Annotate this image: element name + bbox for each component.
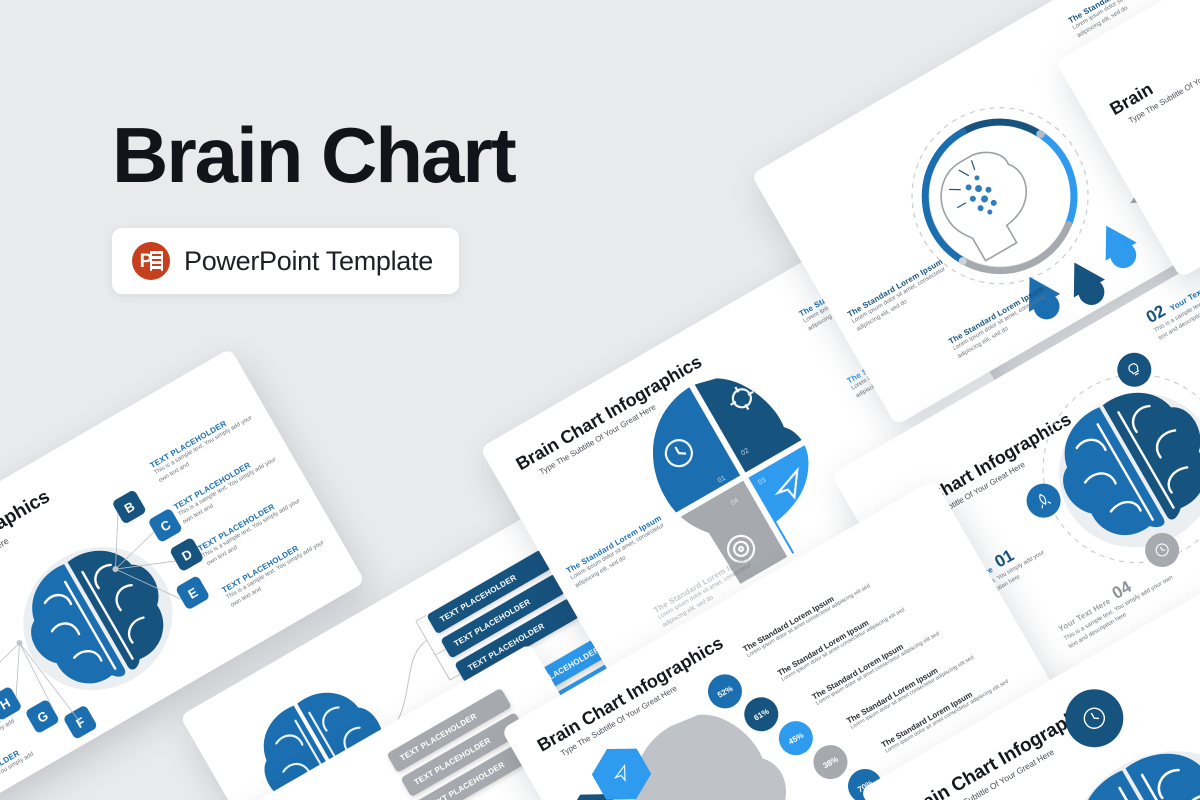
clock-icon: [1077, 700, 1113, 736]
callout-block: The Standard Lorem Ipsum Lorem ipsum dol…: [846, 252, 961, 334]
poster-stage: Brain Chart Infographics Type The Subtit…: [0, 0, 1200, 800]
callout-block: The Standard Lorem Ipsum Lorem ipsum dol…: [565, 510, 679, 591]
powerpoint-template-badge[interactable]: P PowerPoint Template: [112, 228, 459, 294]
paper-plane-icon: [609, 762, 634, 787]
powerpoint-letter: P: [140, 252, 153, 271]
page-title: Brain Chart: [112, 118, 515, 192]
icon-badge[interactable]: [1055, 679, 1134, 758]
rocket-icon: [1033, 490, 1055, 512]
hero-block: Brain Chart P PowerPoint Template: [112, 118, 515, 294]
badge-label: PowerPoint Template: [184, 246, 433, 277]
percent-badge[interactable]: 38%: [807, 739, 853, 785]
callout-body: Lorem ipsum dolor sit amet, consectetur …: [851, 260, 962, 334]
bulb-icon: [1123, 359, 1145, 381]
callout-body: Lorem ipsum dolor sit amet, consectetur …: [569, 517, 678, 590]
powerpoint-icon: P: [132, 242, 170, 280]
